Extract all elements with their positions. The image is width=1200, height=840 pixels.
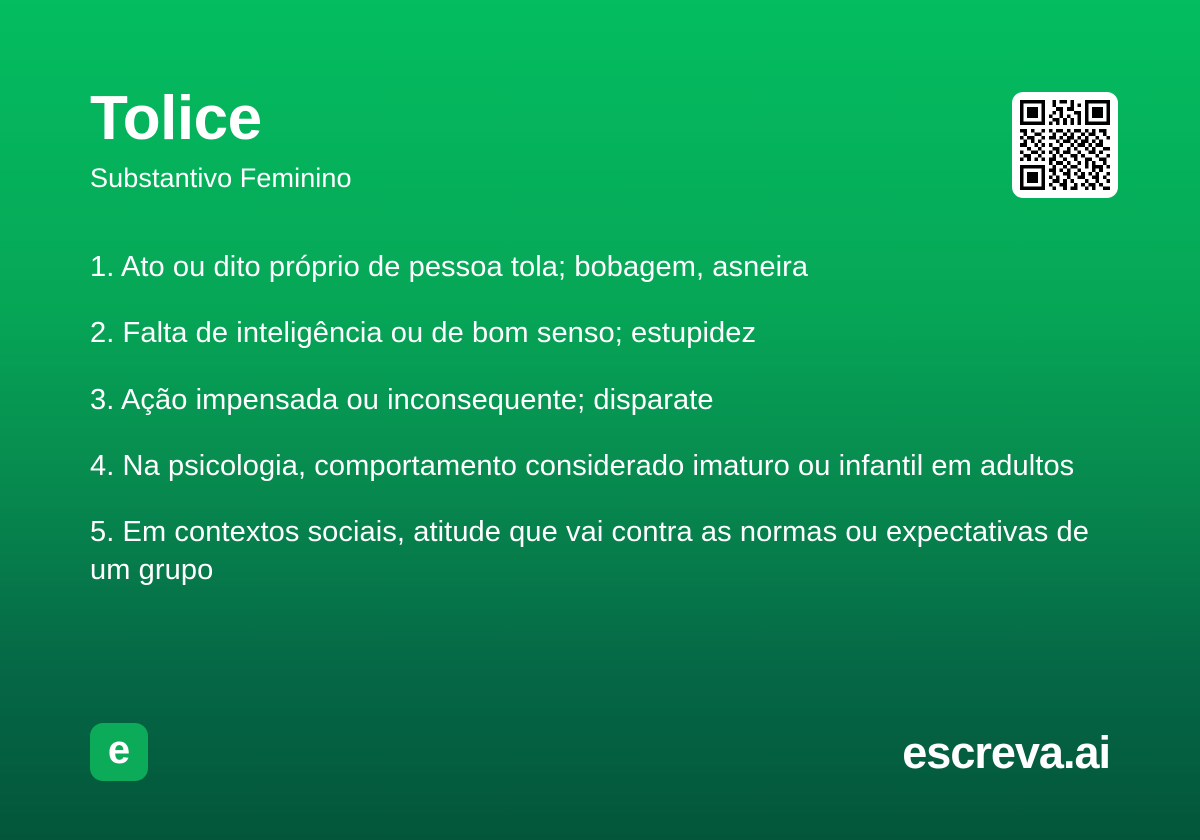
definition-item: 5. Em contextos sociais, atitude que vai… <box>90 513 1110 590</box>
definition-item: 3. Ação impensada ou inconsequente; disp… <box>90 381 1110 419</box>
qr-code-card[interactable] <box>1012 92 1118 198</box>
page-title: Tolice <box>90 88 1110 150</box>
dictionary-card: Tolice Substantivo Feminino <box>0 0 1200 840</box>
brand-logo-icon: e <box>90 723 148 781</box>
definition-item: 4. Na psicologia, comportamento consider… <box>90 447 1110 485</box>
word-class-label: Substantivo Feminino <box>90 164 1110 194</box>
definition-item: 2. Falta de inteligência ou de bom senso… <box>90 314 1110 352</box>
definition-list: 1. Ato ou dito próprio de pessoa tola; b… <box>90 248 1110 590</box>
card-header: Tolice Substantivo Feminino <box>90 88 1110 194</box>
brand-name: escreva.ai <box>902 730 1110 775</box>
brand-logo-letter: e <box>108 730 130 770</box>
definition-item: 1. Ato ou dito próprio de pessoa tola; b… <box>90 248 1110 286</box>
card-footer: e escreva.ai <box>90 723 1110 781</box>
qr-code-icon <box>1020 100 1110 190</box>
